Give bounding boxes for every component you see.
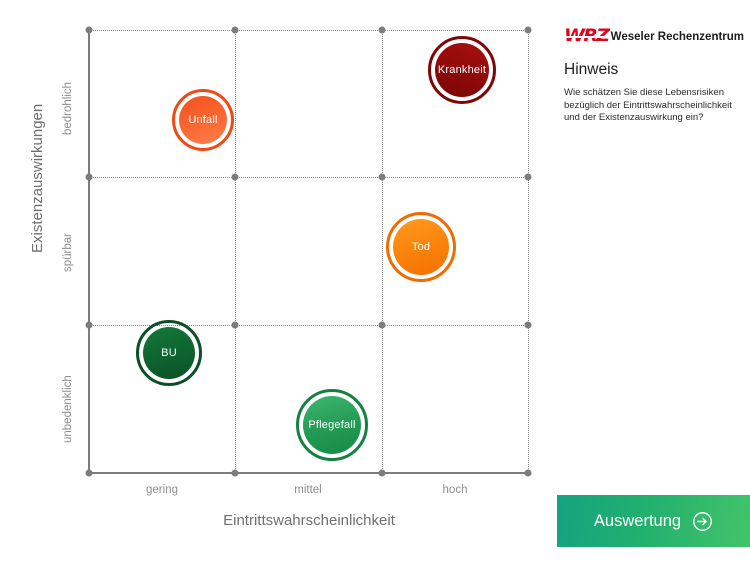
bubble-label: Pflegefall — [308, 419, 355, 431]
y-tick-unbedenklich: unbedenklich — [62, 375, 74, 443]
axis-node-dot — [86, 470, 93, 477]
y-axis-title: Existenzauswirkungen — [29, 104, 46, 253]
bubble-krankheit[interactable]: Krankheit — [428, 36, 496, 104]
brand-header: WRZ Weseler Rechenzentrum — [564, 28, 744, 45]
hint-title: Hinweis — [564, 61, 618, 79]
bubble-label: Unfall — [188, 114, 217, 126]
axis-node-dot — [525, 322, 532, 329]
axis-node-dot — [232, 470, 239, 477]
gridline-horizontal-upper-mid — [89, 177, 528, 178]
x-axis-line — [89, 472, 529, 474]
axis-node-dot — [232, 27, 239, 34]
bubble-pflegefall[interactable]: Pflegefall — [296, 389, 368, 461]
bubble-label: BU — [161, 347, 177, 359]
bubble-label: Krankheit — [438, 64, 486, 76]
bubble-label: Tod — [412, 241, 430, 253]
gridline-vertical-far-right — [528, 30, 529, 473]
axis-node-dot — [86, 27, 93, 34]
axis-node-dot — [86, 174, 93, 181]
y-tick-spuerbar: spürbar — [62, 233, 74, 272]
axis-node-dot — [379, 470, 386, 477]
x-axis-title: Eintrittswahrscheinlichkeit — [89, 512, 529, 529]
wrz-logo-icon: WRZ — [564, 28, 608, 45]
axis-node-dot — [379, 27, 386, 34]
axis-node-dot — [525, 470, 532, 477]
gridline-vertical-left — [235, 30, 236, 473]
axis-node-dot — [86, 322, 93, 329]
side-panel: WRZ Weseler Rechenzentrum Hinweis Wie sc… — [555, 0, 750, 563]
risk-matrix-chart: Unfall Krankheit Tod BU Pflegefall gerin… — [0, 0, 555, 563]
axis-node-dot — [525, 174, 532, 181]
hint-body: Wie schätzen Sie diese Lebensrisiken bez… — [564, 87, 742, 125]
bubble-bu[interactable]: BU — [136, 320, 202, 386]
arrow-right-circle-icon — [692, 511, 713, 532]
auswertung-button[interactable]: Auswertung — [557, 495, 750, 547]
auswertung-button-label: Auswertung — [594, 512, 681, 531]
brand-company-name: Weseler Rechenzentrum — [611, 31, 744, 43]
axis-node-dot — [379, 322, 386, 329]
y-tick-bedrohlich: bedrohlich — [62, 82, 74, 135]
axis-node-dot — [232, 322, 239, 329]
axis-node-dot — [379, 174, 386, 181]
bubble-tod[interactable]: Tod — [386, 212, 456, 282]
x-tick-hoch: hoch — [443, 484, 468, 496]
axis-node-dot — [232, 174, 239, 181]
gridline-horizontal-top — [89, 30, 528, 31]
bubble-unfall[interactable]: Unfall — [172, 89, 234, 151]
axis-node-dot — [525, 27, 532, 34]
y-axis-line — [88, 30, 90, 474]
gridline-vertical-right — [382, 30, 383, 473]
x-tick-gering: gering — [146, 484, 178, 496]
x-tick-mittel: mittel — [294, 484, 321, 496]
